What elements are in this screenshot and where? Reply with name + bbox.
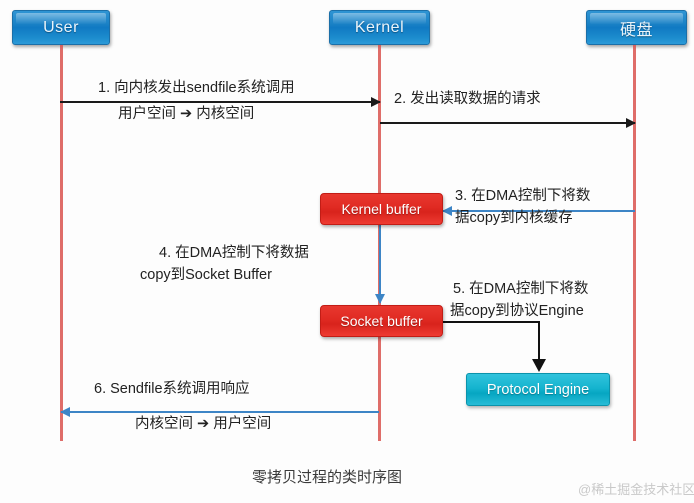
arrow-shaft [380, 122, 635, 124]
arrow-head-left [60, 407, 70, 417]
lifeline-user [60, 45, 63, 441]
node-protocol-engine: Protocol Engine [466, 373, 610, 406]
step-5-connector-vertical [538, 321, 540, 363]
arrow-shaft [379, 225, 381, 303]
actor-label-disk: 硬盘 [620, 16, 653, 40]
actor-label-user: User [43, 19, 79, 37]
step-4-label-line1: 4. 在DMA控制下将数据 [159, 243, 309, 263]
step-4-label-line2: copy到Socket Buffer [140, 265, 272, 285]
node-socket-buffer: Socket buffer [320, 305, 443, 337]
step-6-label: 6. Sendfile系统调用响应 [94, 379, 250, 399]
step-5-label-line1: 5. 在DMA控制下将数 [453, 279, 588, 299]
step-2-label: 2. 发出读取数据的请求 [394, 89, 541, 109]
actor-box-kernel: Kernel [329, 10, 430, 45]
arrow-shaft [61, 411, 379, 413]
actor-label-kernel: Kernel [355, 19, 404, 37]
node-label-kernel-buffer: Kernel buffer [342, 201, 422, 217]
step-2-arrow [380, 122, 635, 124]
arrow-shaft [60, 101, 380, 103]
step-1-arrow [60, 101, 380, 103]
step-4-arrow [379, 225, 381, 303]
sequence-diagram-canvas: User Kernel 硬盘 1. 向内核发出sendfile系统调用 用户空间… [0, 0, 694, 503]
step-3-label-line1: 3. 在DMA控制下将数 [455, 186, 590, 206]
node-label-socket-buffer: Socket buffer [340, 313, 422, 329]
lifeline-disk [633, 45, 636, 441]
actor-box-user: User [12, 10, 110, 45]
arrow-head-left [442, 206, 452, 216]
step-5-connector-horizontal [443, 321, 540, 323]
actor-box-disk: 硬盘 [586, 10, 687, 45]
diagram-caption: 零拷贝过程的类时序图 [252, 466, 402, 487]
node-kernel-buffer: Kernel buffer [320, 193, 443, 225]
step-6-arrow [61, 411, 379, 413]
step-6-sublabel: 内核空间 ➔ 用户空间 [135, 414, 271, 434]
watermark: @稀土掘金技术社区 [578, 479, 694, 498]
step-1-label: 1. 向内核发出sendfile系统调用 [98, 78, 295, 98]
arrow-head-right [626, 118, 636, 128]
step-5-arrow-head-down [532, 359, 546, 372]
step-1-sublabel: 用户空间 ➔ 内核空间 [118, 104, 254, 124]
node-label-protocol-engine: Protocol Engine [487, 382, 589, 398]
arrow-head-right [371, 97, 381, 107]
arrow-head-down [375, 294, 385, 304]
step-5-label-line2: 据copy到协议Engine [450, 301, 584, 321]
step-3-label-line2: 据copy到内核缓存 [455, 208, 573, 228]
